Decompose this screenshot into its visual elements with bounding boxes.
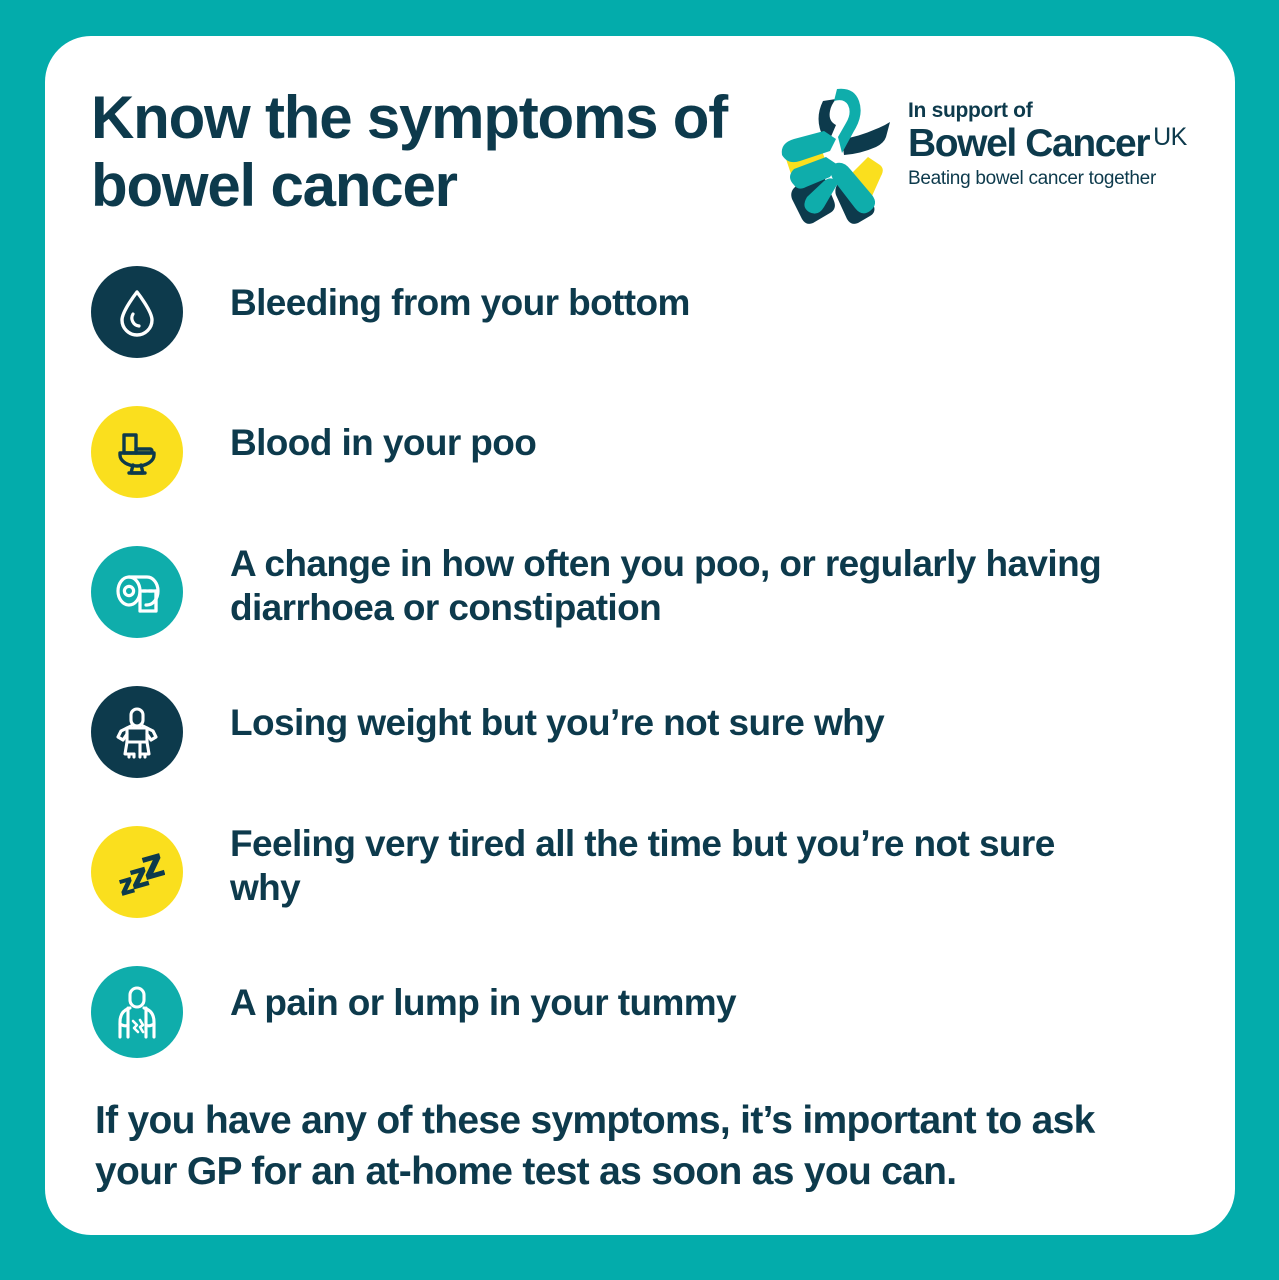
logo-brand-line: Bowel Cancer UK <box>908 124 1208 163</box>
symptom-text: Feeling very tired all the time but you’… <box>230 822 1130 909</box>
tummy-pain-person-icon <box>109 984 165 1040</box>
blood-droplet-icon <box>109 284 165 340</box>
toilet-icon <box>109 424 165 480</box>
symptom-icon-circle <box>91 826 183 918</box>
star-ribbon-icon <box>780 81 895 231</box>
bowel-cancer-uk-logo: In support of Bowel Cancer UK Beating bo… <box>780 81 1200 241</box>
symptom-icon-circle <box>91 686 183 778</box>
symptom-icon-circle <box>91 406 183 498</box>
symptom-text: Blood in your poo <box>230 421 1130 465</box>
sleep-zzz-icon <box>109 844 165 900</box>
symptom-text: A pain or lump in your tummy <box>230 981 1130 1025</box>
toilet-paper-roll-icon <box>109 564 165 620</box>
symptom-row: Blood in your poo <box>45 404 1235 544</box>
header: Know the symptoms of bowel cancer <box>45 36 1235 236</box>
symptom-icon-circle <box>91 966 183 1058</box>
symptom-text: Losing weight but you’re not sure why <box>230 701 1130 745</box>
symptom-row: Bleeding from your bottom <box>45 264 1235 404</box>
symptom-text: Bleeding from your bottom <box>230 281 1130 325</box>
symptom-text: A change in how often you poo, or regula… <box>230 542 1130 629</box>
symptom-list: Bleeding from your bottom <box>45 264 1235 1104</box>
page-title: Know the symptoms of bowel cancer <box>91 84 791 220</box>
logo-tagline: Beating bowel cancer together <box>908 168 1208 190</box>
weight-loss-person-icon <box>109 704 165 760</box>
logo-brand-suffix: UK <box>1153 125 1187 150</box>
logo-support-line: In support of <box>908 99 1208 122</box>
symptom-row: A pain or lump in your tummy <box>45 964 1235 1104</box>
logo-text-block: In support of Bowel Cancer UK Beating bo… <box>908 99 1208 190</box>
symptom-row: A change in how often you poo, or regula… <box>45 544 1235 684</box>
symptom-row: Losing weight but you’re not sure why <box>45 684 1235 824</box>
advice-note: If you have any of these symptoms, it’s … <box>95 1096 1165 1197</box>
infographic-card: Know the symptoms of bowel cancer <box>45 36 1235 1235</box>
symptom-icon-circle <box>91 546 183 638</box>
symptom-row: Feeling very tired all the time but you’… <box>45 824 1235 964</box>
logo-brand-name: Bowel Cancer <box>908 124 1149 163</box>
symptom-icon-circle <box>91 266 183 358</box>
